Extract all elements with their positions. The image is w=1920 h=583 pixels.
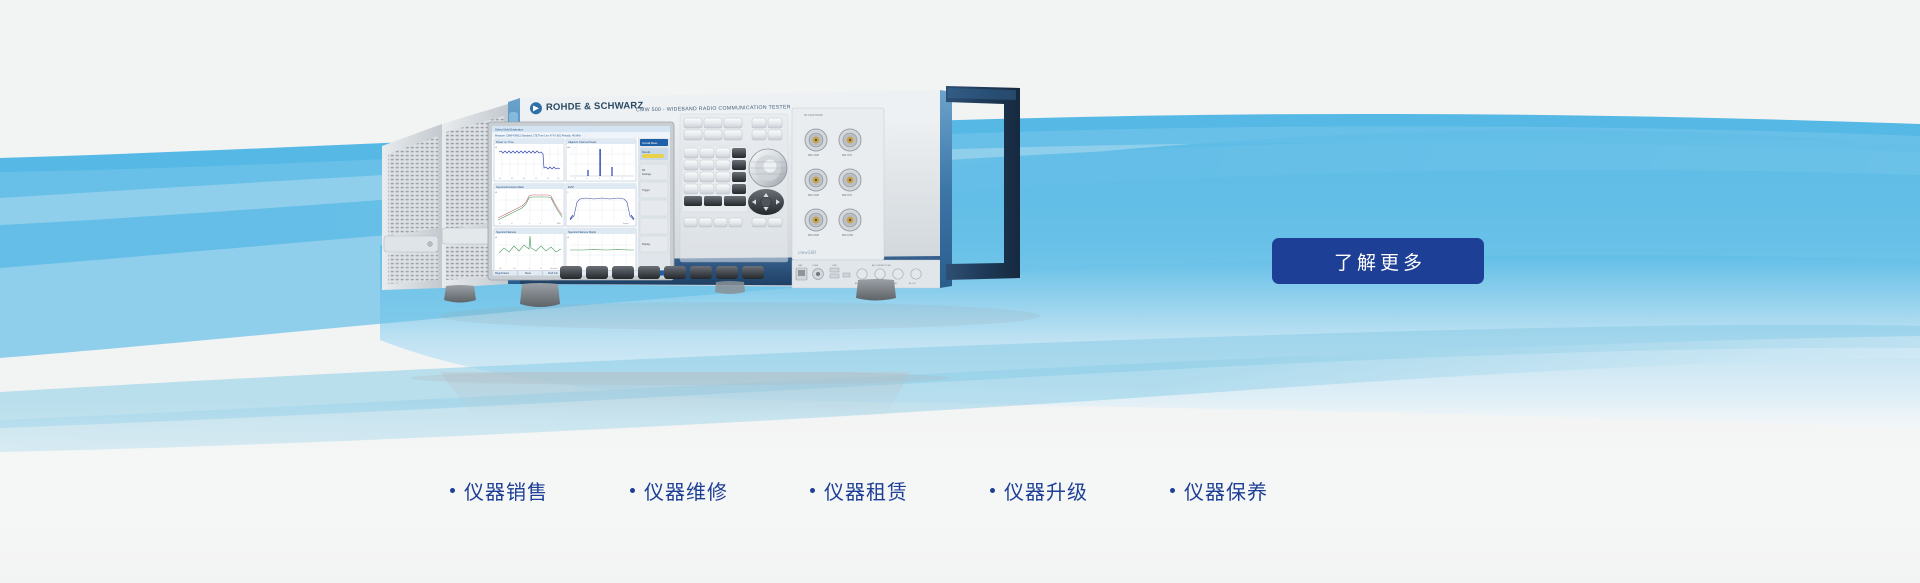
- key-esc: [724, 196, 746, 206]
- svg-text:-1: -1: [586, 178, 588, 180]
- hero-banner: ROHDE & SCHWARZ CMW 500 - WIDEBAND RADIO…: [0, 0, 1920, 583]
- chart-spectral-emission-mask: Spectral Emission Mask dB MHz -8-: [494, 184, 564, 226]
- instrument-keypad-section: [680, 114, 788, 262]
- svg-text:RF4 COM: RF4 COM: [842, 234, 853, 237]
- svg-text:RF FRONTEND: RF FRONTEND: [804, 113, 823, 117]
- af-jack-out: [911, 269, 921, 279]
- af-jack-in2: [875, 269, 885, 279]
- svg-text:2.0: 2.0: [557, 178, 559, 180]
- svg-text:cmw500: cmw500: [798, 250, 816, 256]
- bullet-icon: [630, 488, 635, 493]
- svg-text:MHz: MHz: [557, 223, 561, 225]
- svg-text:Spectral Flatness: Spectral Flatness: [496, 230, 517, 234]
- navigation-pad: [748, 189, 784, 215]
- softkey-3: [612, 266, 634, 279]
- svg-text:Overall Meas: Overall Meas: [642, 141, 658, 145]
- screen-btn-blank2: [640, 218, 668, 234]
- svg-text:Symbol: Symbol: [623, 223, 629, 225]
- af-jack-mic: [893, 269, 903, 279]
- screen-btn-blank1: [640, 200, 668, 216]
- numeric-keypad: [682, 146, 748, 212]
- svg-text:Draft Info: Draft Info: [548, 272, 559, 275]
- svg-text:RF3 COM: RF3 COM: [808, 234, 819, 237]
- svg-text:0.0: 0.0: [499, 178, 501, 180]
- svg-text:subcarrier: subcarrier: [550, 267, 558, 270]
- front-frame-right-rail: [940, 90, 952, 288]
- svg-text:-2: -2: [574, 178, 576, 180]
- softkey-2: [586, 266, 608, 279]
- chart-spectral-flatness: Spectral Flatness dB subcarrier -26-14: [494, 229, 564, 271]
- svg-text:1.2: 1.2: [535, 178, 537, 180]
- svg-text:1: 1: [610, 178, 611, 180]
- svg-text:AF CONNECTORS: AF CONNECTORS: [872, 264, 891, 267]
- bullet-icon: [1170, 488, 1175, 493]
- svg-text:0.8: 0.8: [523, 178, 525, 180]
- chart-evm: EVM % Symbol: [566, 184, 636, 226]
- key-enter: [704, 196, 722, 206]
- rf-connector-module: RF FRONTEND RF1 COM RF1 OUT: [792, 108, 884, 260]
- svg-text:USB: USB: [832, 265, 837, 267]
- svg-text:Display: Display: [642, 243, 651, 246]
- svg-text:14: 14: [540, 268, 542, 270]
- svg-text:Magnification: Magnification: [495, 272, 510, 275]
- svg-text:dBm: dBm: [567, 147, 571, 149]
- usb-port-1: [830, 268, 839, 272]
- svg-text:EVM: EVM: [568, 185, 574, 189]
- bullet-icon: [810, 488, 815, 493]
- svg-text:Results: Results: [642, 151, 651, 154]
- bullet-icon: [450, 488, 455, 493]
- foot-middle: [520, 283, 560, 307]
- foot-left: [444, 285, 476, 303]
- softkey-7: [716, 266, 738, 279]
- svg-text:AF OUT: AF OUT: [909, 282, 917, 285]
- chart-power-vs-time: Power vs. Time dB 0.00.4 0.81.2: [494, 139, 564, 181]
- svg-text:Measure: CMW-KM011 Standard:: Measure: CMW-KM011 Standard: LTE Time Le…: [495, 134, 581, 137]
- softkey-8: [742, 266, 764, 279]
- learn-more-button[interactable]: 了解更多: [1272, 238, 1484, 284]
- service-link-label: 仪器维修: [644, 476, 728, 505]
- svg-text:Meas: Meas: [525, 272, 532, 275]
- foot-rear: [715, 281, 745, 294]
- svg-text:Select Multi Evaluation: Select Multi Evaluation: [495, 128, 524, 132]
- service-links: 仪器销售 仪器维修 仪器租赁 仪器升级 仪器保养: [450, 470, 1450, 510]
- service-link-rental[interactable]: 仪器租赁: [810, 476, 990, 505]
- service-link-maintenance[interactable]: 仪器保养: [1170, 476, 1350, 505]
- carry-handle: [946, 86, 1020, 280]
- svg-text:Adjacent Channel Power: Adjacent Channel Power: [568, 140, 597, 144]
- svg-text:0: 0: [529, 223, 530, 225]
- svg-text:RF2 OUT: RF2 OUT: [842, 194, 853, 197]
- screen-btn-marker: [640, 164, 668, 180]
- svg-text:LAN: LAN: [798, 264, 803, 267]
- service-link-label: 仪器保养: [1184, 476, 1268, 505]
- svg-text:RF1 COM: RF1 COM: [808, 154, 819, 157]
- softkey-5: [664, 266, 686, 279]
- svg-text:RF2 COM: RF2 COM: [808, 194, 819, 197]
- svg-text:0.4: 0.4: [511, 178, 513, 180]
- svg-text:0: 0: [599, 178, 600, 180]
- af-jack-in1: [857, 269, 867, 279]
- svg-text:-8: -8: [499, 223, 501, 225]
- softkey-6: [690, 266, 712, 279]
- softkey-4: [638, 266, 660, 279]
- softkey-1: [560, 266, 582, 279]
- bullet-icon: [990, 488, 995, 493]
- svg-text:-4: -4: [511, 223, 513, 225]
- svg-text:-14: -14: [513, 268, 516, 270]
- usb-port-2: [830, 274, 839, 278]
- svg-text:Power vs. Time: Power vs. Time: [496, 140, 514, 144]
- svg-text:COAX: COAX: [812, 264, 819, 267]
- svg-text:Spectral Flatness Ripple: Spectral Flatness Ripple: [568, 230, 597, 234]
- instrument-left-body: [382, 124, 442, 290]
- rotary-knob: [749, 149, 787, 187]
- svg-text:4: 4: [540, 223, 541, 225]
- svg-text:Trigger: Trigger: [642, 189, 650, 192]
- instrument-cmw500-image: ROHDE & SCHWARZ CMW 500 - WIDEBAND RADIO…: [380, 78, 1100, 378]
- service-link-repair[interactable]: 仪器维修: [630, 476, 810, 505]
- svg-text:1.6: 1.6: [547, 178, 549, 180]
- svg-text:-26: -26: [499, 268, 502, 270]
- key-backspace: [684, 196, 702, 206]
- svg-text:0: 0: [529, 268, 530, 270]
- service-link-label: 仪器租赁: [824, 476, 908, 505]
- svg-text:RF: RF: [642, 169, 646, 172]
- brand-text: ROHDE & SCHWARZ: [546, 100, 644, 113]
- service-link-label: 仪器升级: [1004, 476, 1088, 505]
- chart-spectral-flatness-ripple: Spectral Flatness Ripple dB subcarrier: [566, 229, 636, 271]
- service-link-upgrade[interactable]: 仪器升级: [990, 476, 1170, 505]
- svg-text:RF1 OUT: RF1 OUT: [842, 154, 853, 157]
- foot-right: [856, 279, 896, 301]
- service-link-sales[interactable]: 仪器销售: [450, 476, 630, 505]
- service-link-label: 仪器销售: [464, 476, 548, 505]
- svg-text:Settings: Settings: [642, 173, 652, 176]
- usb-port-3: [843, 273, 850, 277]
- svg-text:Spectral Emission Mask: Spectral Emission Mask: [496, 185, 524, 189]
- svg-text:2: 2: [622, 178, 623, 180]
